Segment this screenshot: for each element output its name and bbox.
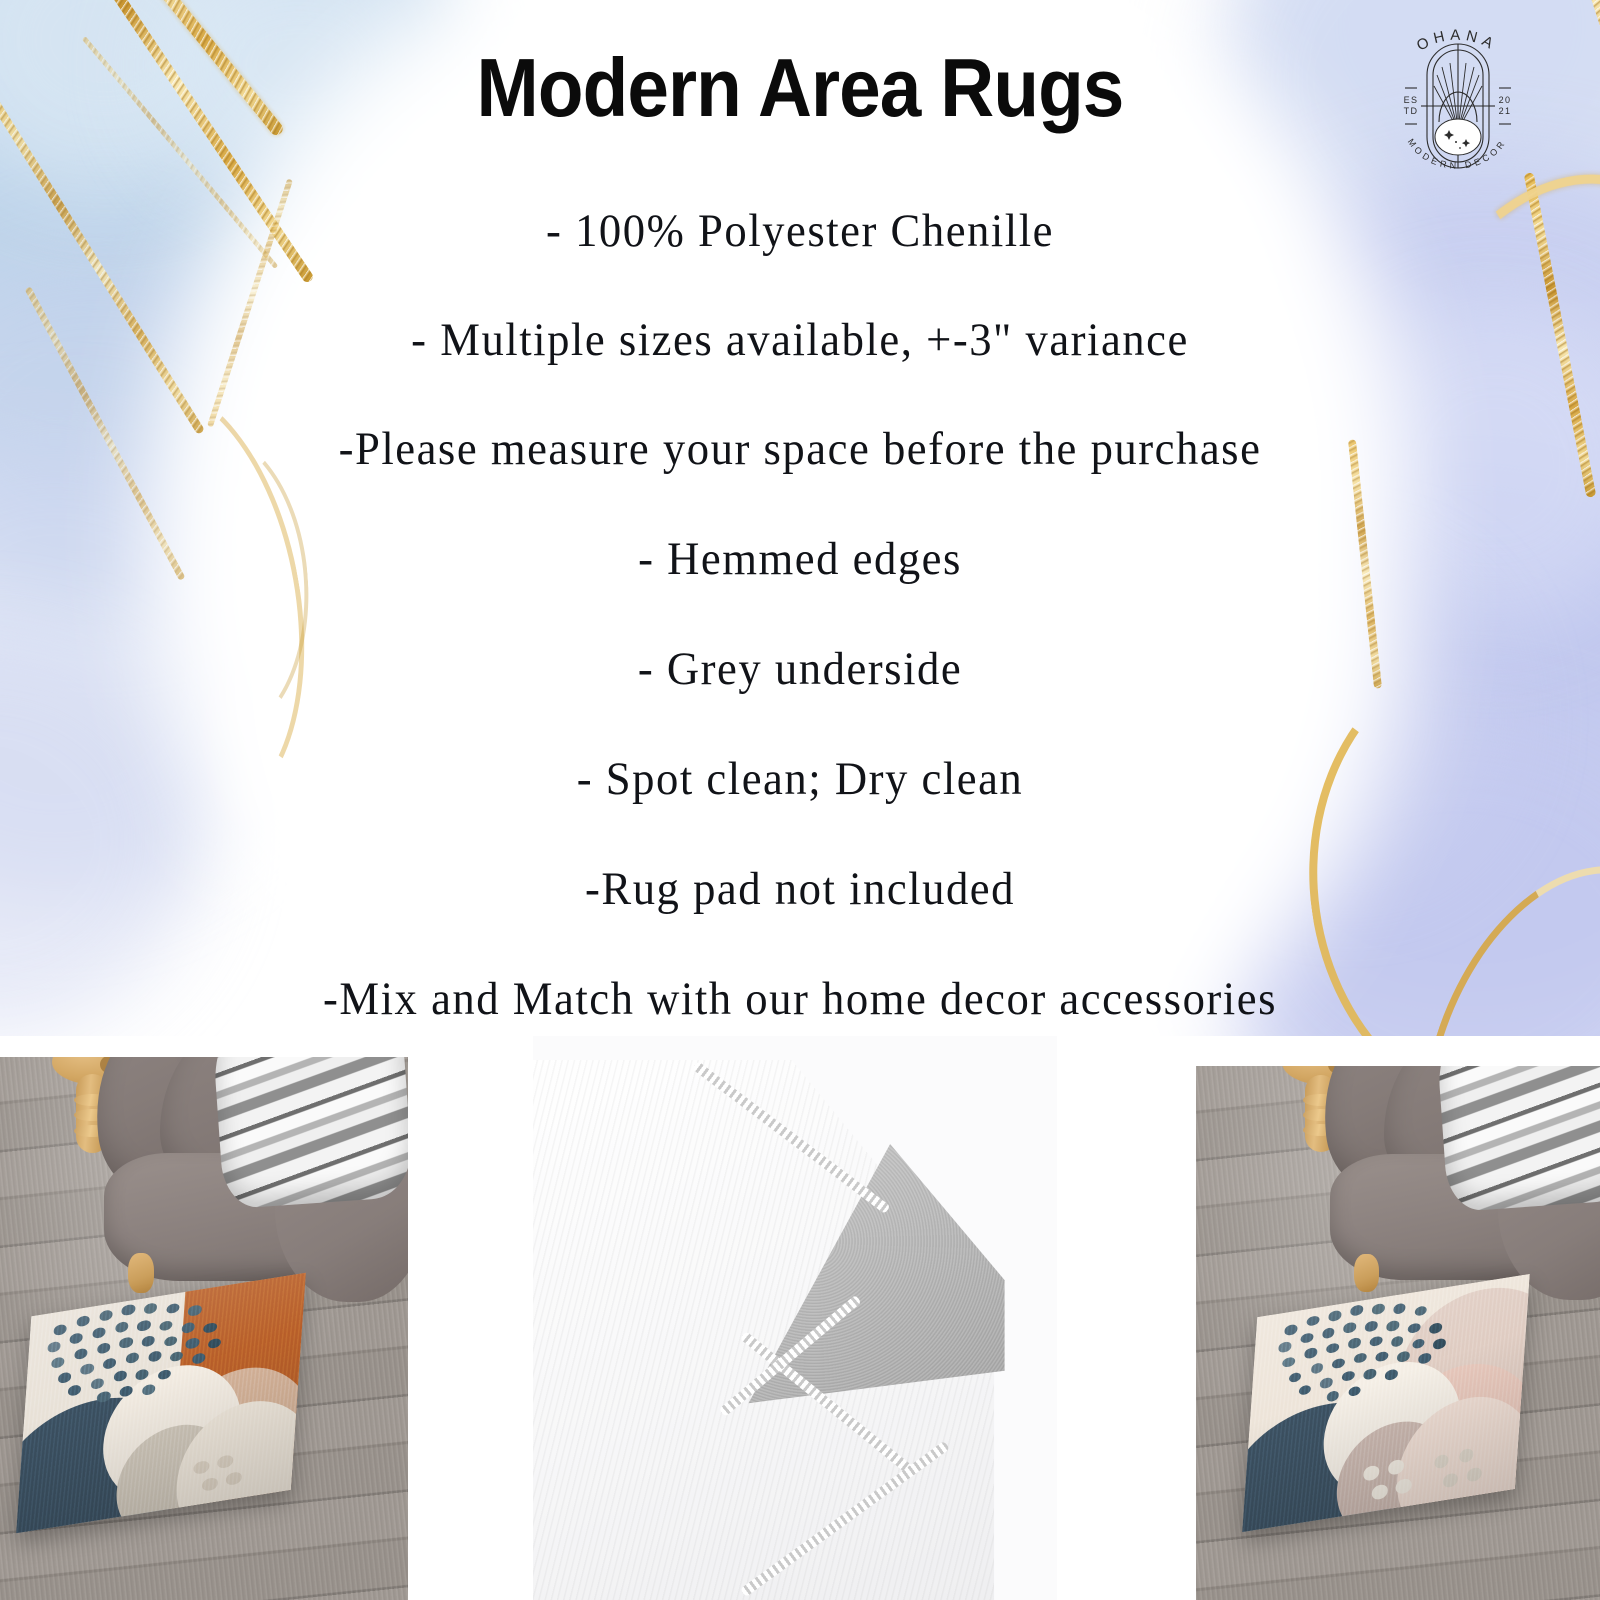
striped-pillow (1436, 1066, 1600, 1212)
flatlay-photo (533, 1036, 1057, 1600)
rug-shading (1242, 1274, 1530, 1532)
rug-underside-detail (533, 1036, 1057, 1600)
logo-estd-line2: TD (1404, 106, 1419, 116)
feature-item: - Hemmed edges (40, 536, 1560, 583)
feature-list: - 100% Polyester Chenille - Multiple siz… (0, 188, 1600, 1023)
area-rug-blush (1242, 1274, 1530, 1532)
armchair-foot (1354, 1254, 1379, 1292)
feature-item: - 100% Polyester Chenille (40, 208, 1560, 255)
feature-item: - Grey underside (40, 646, 1560, 693)
feature-item: -Mix and Match with our home decor acces… (40, 976, 1560, 1023)
area-rug-rust (16, 1273, 306, 1534)
feature-item: -Please measure your space before the pu… (40, 426, 1560, 473)
ohana-logo-mark: ES TD 20 21 OHANA MODERN DECOR (1381, 18, 1533, 194)
feature-item: - Spot clean; Dry clean (40, 756, 1560, 803)
logo-year-line1: 20 (1499, 95, 1512, 105)
striped-pillow (212, 1057, 408, 1209)
room-scene-rust-colorway (0, 1057, 408, 1600)
room-photo (0, 1057, 408, 1600)
armchair-foot (128, 1253, 154, 1293)
room-photo (1196, 1066, 1600, 1600)
feature-item: -Rug pad not included (40, 866, 1560, 913)
product-photo-strip (0, 1036, 1600, 1600)
ohana-logo: ES TD 20 21 OHANA MODERN DECOR (1381, 18, 1533, 194)
rug-shading (16, 1273, 306, 1534)
logo-estd-line1: ES (1404, 95, 1419, 105)
page-title: Modern Area Rugs (80, 40, 1520, 136)
product-listing-image: Modern Area Rugs (0, 0, 1600, 1600)
logo-year-line2: 21 (1499, 106, 1512, 116)
room-scene-blush-colorway (1196, 1066, 1600, 1600)
feature-item: - Multiple sizes available, +-3" varianc… (40, 317, 1560, 364)
